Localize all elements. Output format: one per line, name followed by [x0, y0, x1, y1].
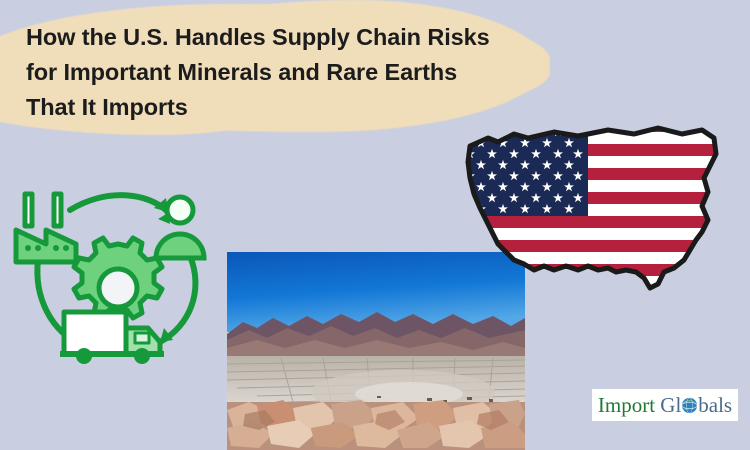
gear-icon	[74, 238, 162, 318]
page-title-line-2: for Important Minerals and Rare Earths	[26, 55, 546, 90]
brand-logo-import: Import	[598, 395, 655, 416]
brand-logo[interactable]: Import Gl bals	[592, 389, 738, 421]
truck-icon	[60, 312, 164, 354]
factory-icon	[16, 194, 76, 262]
globe-icon	[681, 397, 698, 414]
brand-logo-bals: bals	[698, 395, 732, 416]
page-title-line-1: How the U.S. Handles Supply Chain Risks	[26, 20, 546, 55]
poster-canvas: How the U.S. Handles Supply Chain Risks …	[0, 0, 750, 450]
supply-chain-illustration	[8, 186, 228, 376]
brand-logo-gl: Gl	[660, 395, 681, 416]
us-flag-map	[458, 120, 726, 300]
brand-logo-text: Import Gl bals	[598, 395, 732, 416]
page-title: How the U.S. Handles Supply Chain Risks …	[26, 20, 546, 125]
flag-stripes	[458, 120, 726, 300]
